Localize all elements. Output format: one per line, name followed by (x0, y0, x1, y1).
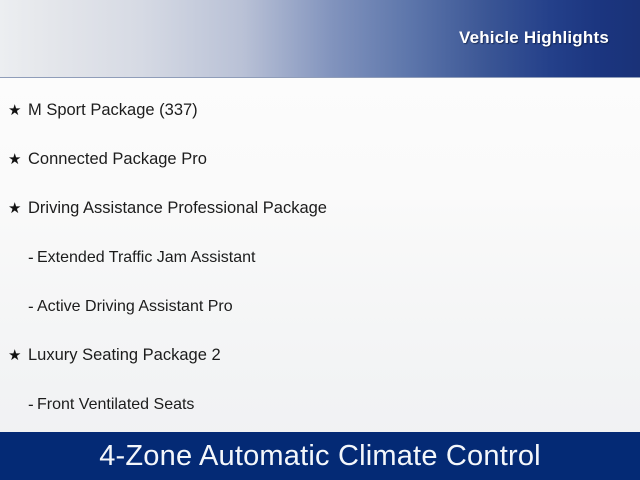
feature-row: ★Luxury Seating Package 2 (0, 331, 640, 380)
feature-label: Active Driving Assistant Pro (37, 299, 233, 315)
star-bullet-icon: ★ (8, 348, 28, 363)
feature-label: Luxury Seating Package 2 (28, 347, 221, 364)
page-title: Vehicle Highlights (459, 28, 609, 48)
feature-label: Driving Assistance Professional Package (28, 200, 327, 217)
header-bar: Vehicle Highlights (0, 0, 640, 78)
dash-bullet-icon: - (28, 249, 37, 266)
feature-row: -Extended Traffic Jam Assistant (0, 233, 640, 282)
dash-bullet-icon: - (28, 298, 37, 315)
feature-label: Front Ventilated Seats (37, 397, 194, 413)
star-bullet-icon: ★ (8, 103, 28, 118)
feature-row: ★M Sport Package (337) (0, 86, 640, 135)
bottom-banner: 4-Zone Automatic Climate Control (0, 432, 640, 480)
star-bullet-icon: ★ (8, 152, 28, 167)
dash-bullet-icon: - (28, 396, 37, 413)
bottom-banner-text: 4-Zone Automatic Climate Control (99, 440, 541, 473)
feature-row: -Front Ventilated Seats (0, 380, 640, 429)
feature-row: -Active Driving Assistant Pro (0, 282, 640, 331)
star-bullet-icon: ★ (8, 201, 28, 216)
feature-list: ★M Sport Package (337)★Connected Package… (0, 86, 640, 429)
vehicle-highlights-slide: Vehicle Highlights ★M Sport Package (337… (0, 0, 640, 480)
feature-label: Extended Traffic Jam Assistant (37, 250, 255, 266)
feature-label: M Sport Package (337) (28, 102, 198, 119)
feature-row: ★Connected Package Pro (0, 135, 640, 184)
feature-row: ★Driving Assistance Professional Package (0, 184, 640, 233)
feature-label: Connected Package Pro (28, 151, 207, 168)
